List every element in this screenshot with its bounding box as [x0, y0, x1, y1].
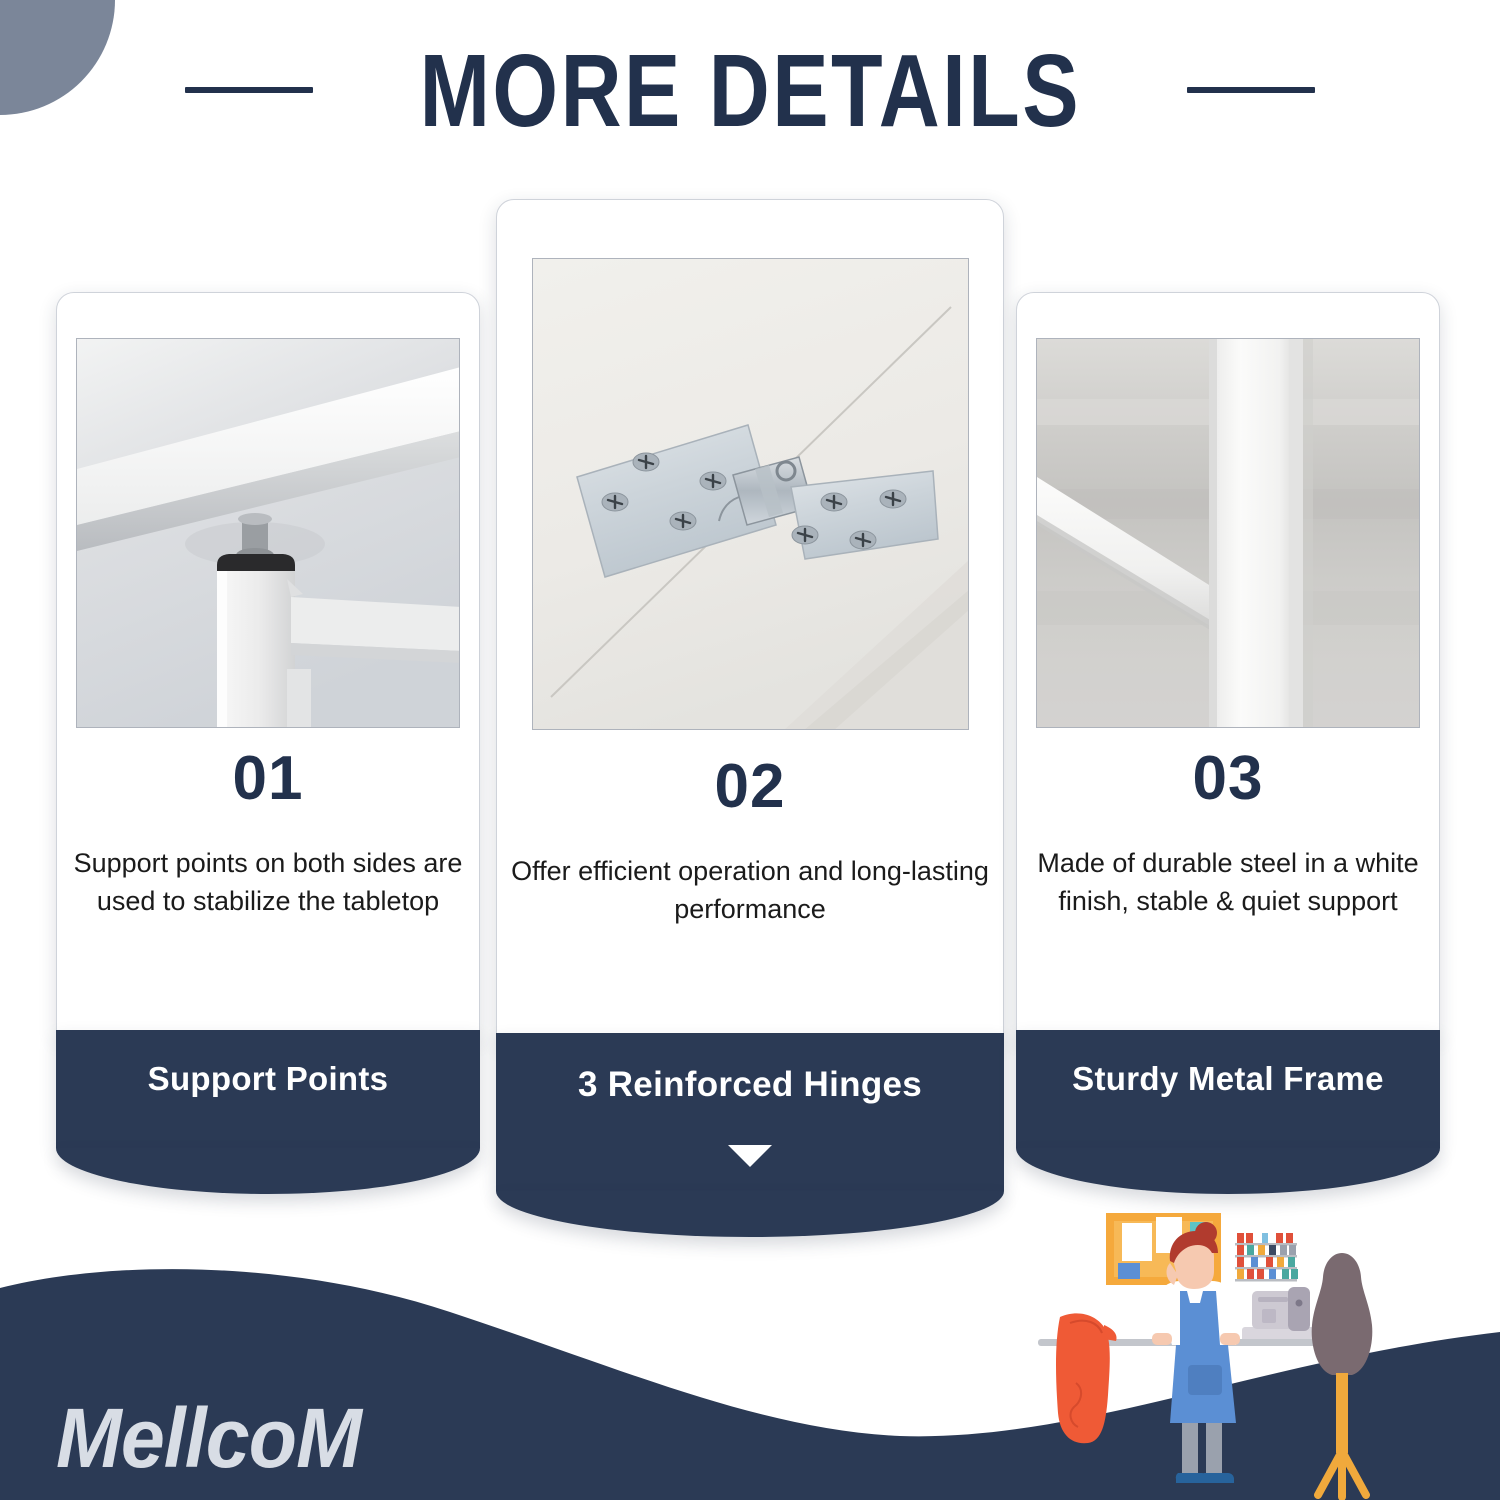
card-01-number: 01: [57, 748, 479, 810]
dress-form-icon: [1312, 1253, 1373, 1497]
red-fabric: [1056, 1313, 1117, 1443]
card-01-band-label: Support Points: [56, 1060, 480, 1098]
card-02-band-arc: [496, 1191, 1004, 1237]
card-02-photo-hinge: [532, 258, 969, 730]
card-01-photo-support-point: [76, 338, 460, 728]
card-02-band-label: 3 Reinforced Hinges: [496, 1065, 1004, 1105]
thread-spool-shelves-icon: [1235, 1233, 1298, 1282]
sewing-room-illustration: [1030, 1205, 1500, 1500]
card-03-photo-wrap: [1017, 338, 1439, 728]
card-03-body: 03 Made of durable steel in a white fini…: [1017, 748, 1439, 921]
card-03-band: Sturdy Metal Frame: [1016, 1030, 1440, 1148]
card-02-photo-wrap: [497, 258, 1003, 730]
metal-frame-image: [1037, 339, 1420, 728]
brand-logo: MellcoM: [56, 1390, 361, 1487]
card-02-band: 3 Reinforced Hinges: [496, 1033, 1004, 1191]
card-02-number: 02: [497, 756, 1003, 818]
feature-card-02[interactable]: 02 Offer efficient operation and long-la…: [496, 199, 1004, 1041]
card-03-band-arc: [1016, 1148, 1440, 1194]
feature-card-01[interactable]: 01 Support points on both sides are used…: [56, 292, 480, 1036]
sewing-machine-icon: [1242, 1287, 1316, 1345]
card-01-description: Support points on both sides are used to…: [57, 844, 479, 921]
support-point-image: [77, 339, 460, 728]
card-03-description: Made of durable steel in a white finish,…: [1017, 844, 1439, 921]
card-02-description: Offer efficient operation and long-lasti…: [497, 852, 1003, 929]
card-03-band-label: Sturdy Metal Frame: [1016, 1060, 1440, 1098]
card-03-number: 03: [1017, 748, 1439, 810]
card-01-band-arc: [56, 1148, 480, 1194]
hinge-image: [533, 259, 969, 730]
card-01-band: Support Points: [56, 1030, 480, 1148]
card-01-body: 01 Support points on both sides are used…: [57, 748, 479, 921]
card-02-body: 02 Offer efficient operation and long-la…: [497, 756, 1003, 929]
card-01-photo-wrap: [57, 338, 479, 728]
chevron-down-icon[interactable]: [728, 1145, 772, 1167]
card-03-photo-metal-frame: [1036, 338, 1420, 728]
feature-card-03[interactable]: 03 Made of durable steel in a white fini…: [1016, 292, 1440, 1036]
